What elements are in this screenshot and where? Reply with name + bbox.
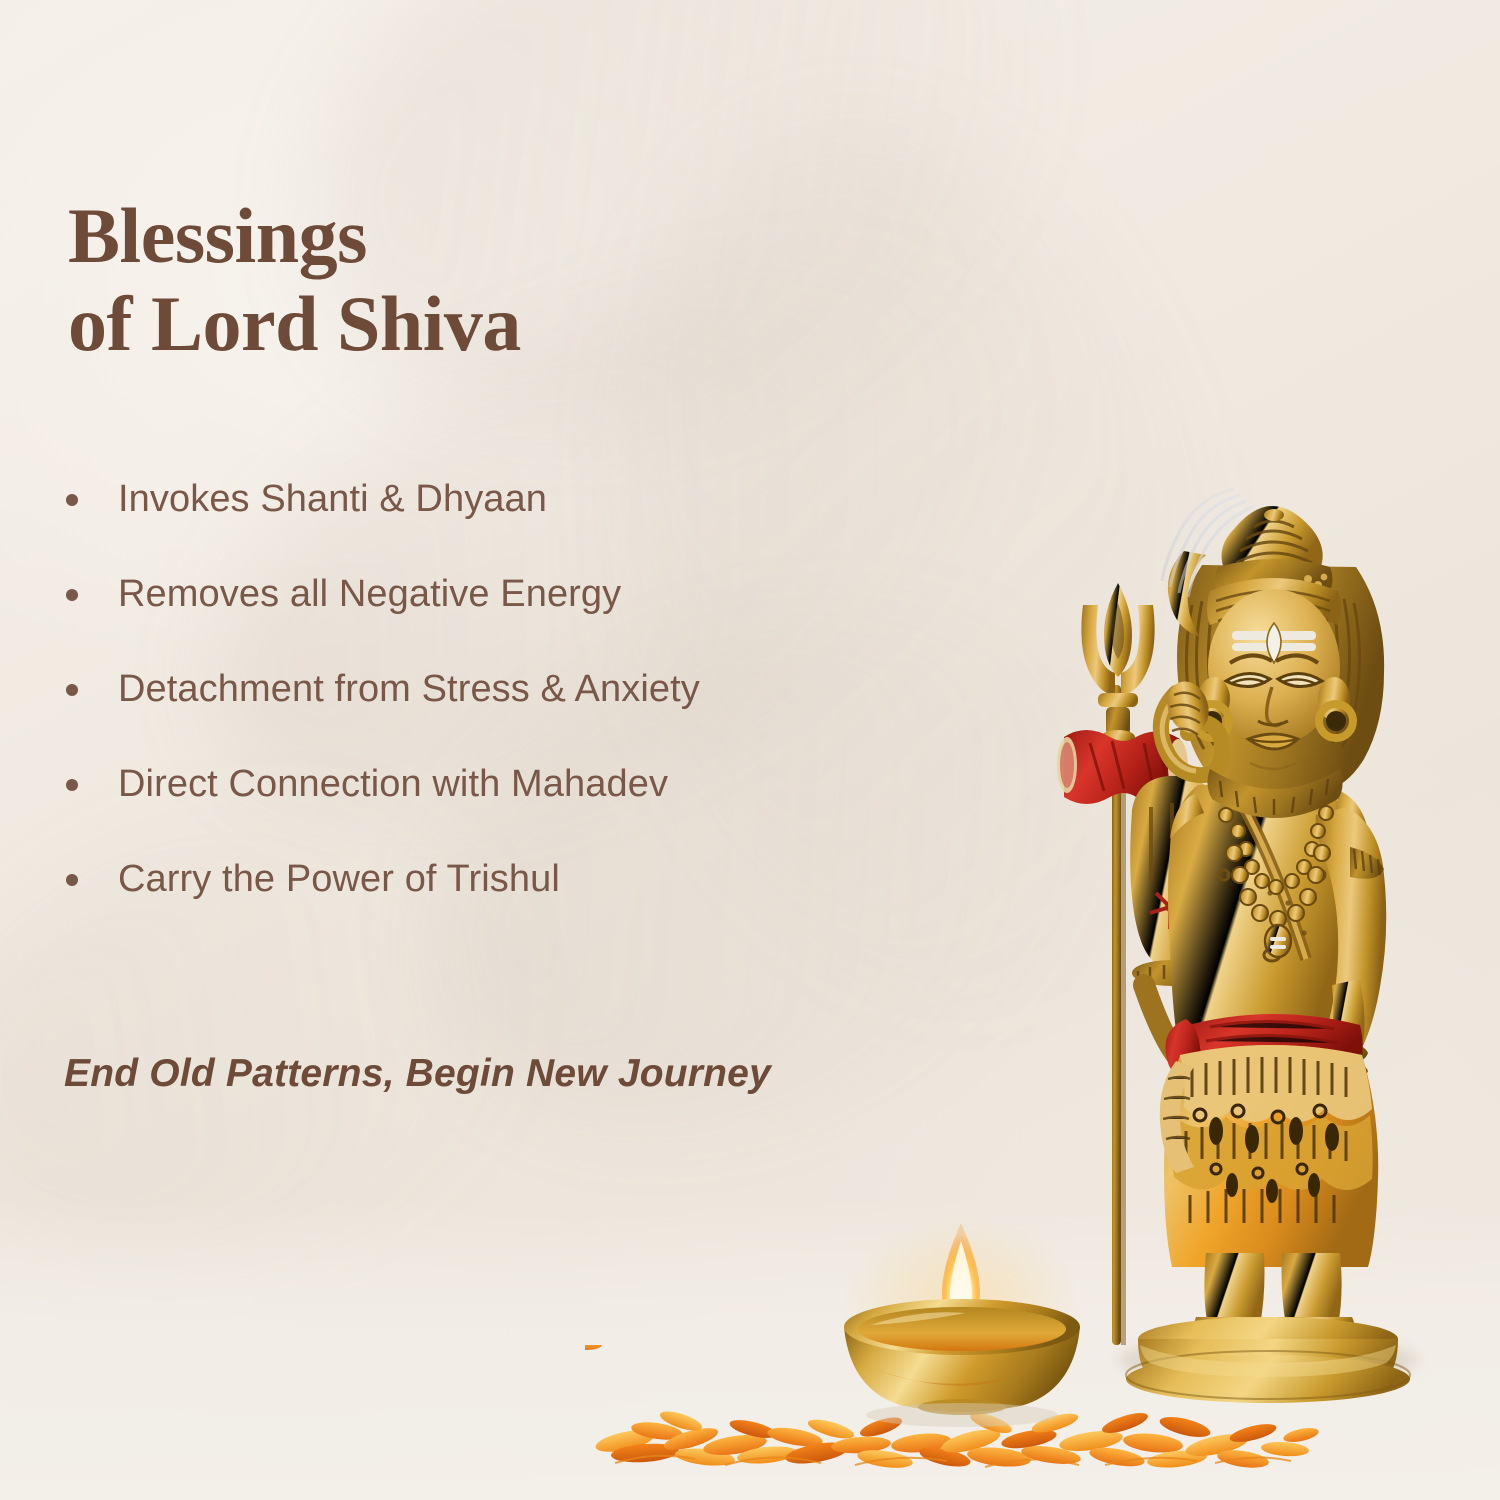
list-item: Carry the Power of Trishul: [60, 832, 1020, 927]
list-item-label: Direct Connection with Mahadev: [118, 763, 668, 806]
bullet-dot-icon: [66, 589, 78, 601]
list-item-label: Removes all Negative Energy: [118, 573, 621, 616]
diya-bowl: [844, 1299, 1080, 1415]
benefits-list: Invokes Shanti & Dhyaan Removes all Nega…: [60, 452, 1020, 927]
list-item: Direct Connection with Mahadev: [60, 737, 1020, 832]
bullet-dot-icon: [66, 874, 78, 886]
bullet-dot-icon: [66, 494, 78, 506]
page-title: Blessings of Lord Shiva: [68, 192, 888, 367]
page-title-line-1: Blessings: [68, 192, 367, 279]
tagline: End Old Patterns, Begin New Journey: [64, 1052, 771, 1096]
list-item-label: Invokes Shanti & Dhyaan: [118, 478, 547, 521]
list-item-label: Detachment from Stress & Anxiety: [118, 668, 700, 711]
poster-canvas: Blessings of Lord Shiva Invokes Shanti &…: [0, 0, 1500, 1500]
list-item: Invokes Shanti & Dhyaan: [60, 452, 1020, 547]
page-title-line-2: of Lord Shiva: [68, 280, 888, 367]
diya-illustration: [810, 1215, 1170, 1455]
bullet-dot-icon: [66, 779, 78, 791]
tiger-skin-dhoti: [1160, 1045, 1378, 1267]
list-item: Removes all Negative Energy: [60, 547, 1020, 642]
list-item-label: Carry the Power of Trishul: [118, 858, 560, 901]
bullet-dot-icon: [66, 684, 78, 696]
statue-head: [1162, 489, 1384, 791]
list-item: Detachment from Stress & Anxiety: [60, 642, 1020, 737]
brass-diya-lamp: [810, 1215, 1170, 1455]
